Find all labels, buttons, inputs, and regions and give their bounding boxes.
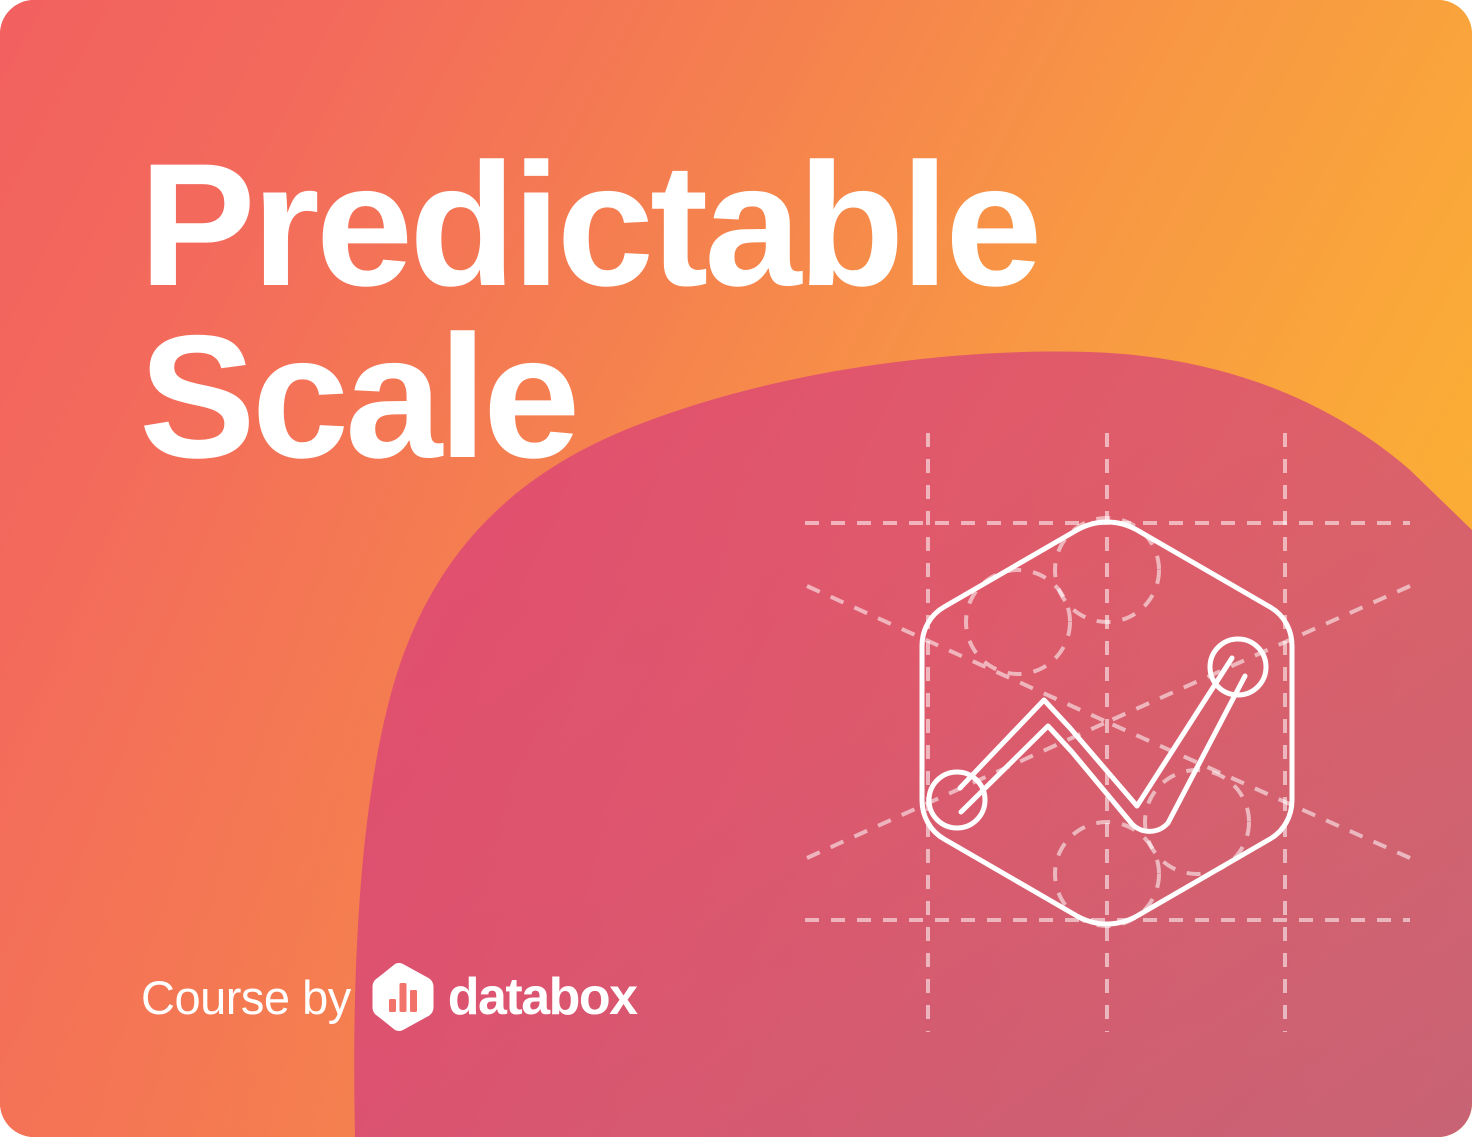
trend-line-lower-edge bbox=[961, 676, 1245, 831]
databox-wordmark: databox bbox=[448, 971, 637, 1023]
diagonal-bottom-right bbox=[1107, 722, 1410, 858]
trend-line-ribbon bbox=[961, 676, 1245, 831]
course-promo-card: Predictable Scale Course by databox bbox=[0, 0, 1472, 1137]
hexagon-analytics-graphic bbox=[780, 400, 1440, 1060]
logo-bar-tall bbox=[399, 983, 406, 1012]
diagonal-top-right bbox=[1107, 586, 1410, 722]
page-title: Predictable Scale bbox=[139, 140, 1038, 483]
databox-hexagon-icon bbox=[372, 963, 434, 1031]
logo-bar-short bbox=[389, 999, 396, 1012]
diagonal-top-left bbox=[807, 586, 1107, 722]
course-credit: Course by databox bbox=[141, 963, 637, 1031]
course-by-label: Course by bbox=[141, 974, 351, 1021]
databox-logo: databox bbox=[372, 963, 637, 1031]
logo-bar-medium bbox=[410, 990, 417, 1012]
